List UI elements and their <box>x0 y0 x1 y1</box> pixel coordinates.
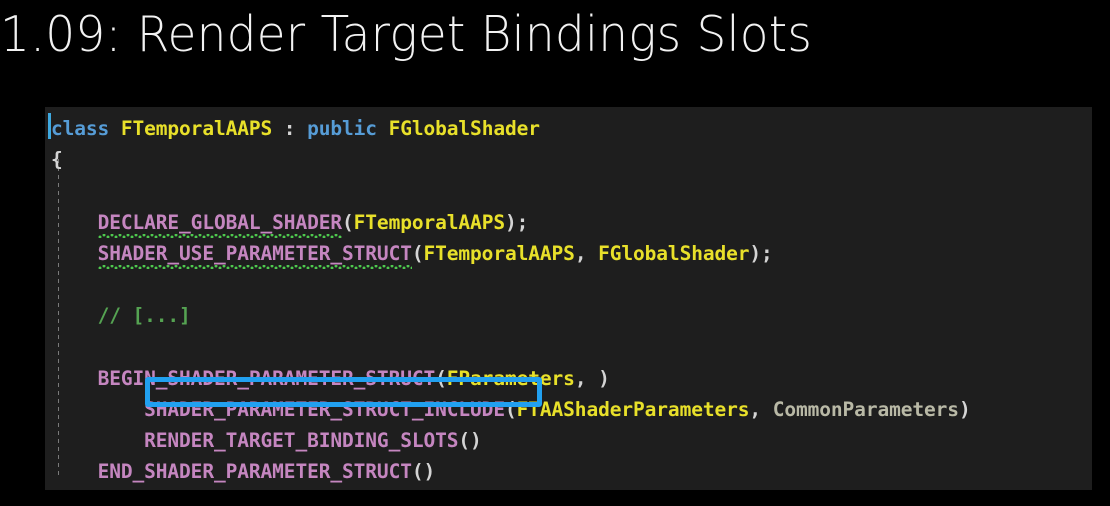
code-line: SHADER_PARAMETER_STRUCT_INCLUDE(FTAAShad… <box>51 394 971 425</box>
code-token: FGlobalShader <box>389 117 540 140</box>
code-token: BEGIN_SHADER_PARAMETER_STRUCT <box>98 367 436 390</box>
code-token: FGlobalShader <box>598 242 749 265</box>
code-token: DECLARE_GLOBAL_SHADER <box>98 211 342 234</box>
code-line <box>51 175 971 206</box>
code-token: () <box>412 460 435 483</box>
code-token: FTemporalAAPS <box>121 117 272 140</box>
code-token <box>109 117 121 140</box>
code-token: FTAAShaderParameters <box>517 398 750 421</box>
code-token: ( <box>505 398 517 421</box>
code-line <box>51 331 971 362</box>
code-token: // [...] <box>98 304 191 327</box>
code-token: ); <box>749 242 772 265</box>
code-token: SHADER_PARAMETER_STRUCT_INCLUDE <box>144 398 505 421</box>
code-listing[interactable]: class FTemporalAAPS : public FGlobalShad… <box>45 107 971 490</box>
slide-canvas: 1.09: Render Target Bindings Slots class… <box>0 0 1110 506</box>
code-token: ); <box>505 211 528 234</box>
code-token: END_SHADER_PARAMETER_STRUCT <box>98 460 412 483</box>
code-token: CommonParameters <box>773 398 959 421</box>
code-line: DECLARE_GLOBAL_SHADER(FTemporalAAPS); <box>51 207 971 238</box>
code-token: ( <box>435 367 447 390</box>
code-token <box>51 242 98 265</box>
code-token <box>51 429 144 452</box>
code-token: public <box>307 117 377 140</box>
code-token <box>377 117 389 140</box>
code-line: SHADER_USE_PARAMETER_STRUCT(FTemporalAAP… <box>51 238 971 269</box>
code-line: BEGIN_SHADER_PARAMETER_STRUCT(FParameter… <box>51 363 971 394</box>
code-token <box>51 304 98 327</box>
code-panel: class FTemporalAAPS : public FGlobalShad… <box>45 107 1092 490</box>
code-token: FTemporalAAPS <box>423 242 574 265</box>
code-token: , ) <box>575 367 610 390</box>
code-token <box>51 367 98 390</box>
code-token: { <box>51 148 63 171</box>
code-token: FTemporalAAPS <box>354 211 505 234</box>
code-token: FParameters <box>447 367 575 390</box>
code-line: RENDER_TARGET_BINDING_SLOTS() <box>51 425 971 456</box>
code-line: class FTemporalAAPS : public FGlobalShad… <box>51 113 971 144</box>
code-token: , <box>575 242 598 265</box>
code-line <box>51 269 971 300</box>
code-token: , <box>749 398 772 421</box>
page-title: 1.09: Render Target Bindings Slots <box>0 0 1056 74</box>
code-token: ( <box>412 242 424 265</box>
code-token <box>51 211 98 234</box>
code-token <box>51 398 144 421</box>
code-line: { <box>51 144 971 175</box>
code-token: ( <box>342 211 354 234</box>
code-token: : <box>272 117 307 140</box>
code-line: // [...] <box>51 300 971 331</box>
code-token: RENDER_TARGET_BINDING_SLOTS <box>144 429 458 452</box>
code-line: }; <box>51 487 971 490</box>
code-token: class <box>51 117 109 140</box>
code-token: ) <box>959 398 971 421</box>
code-token: () <box>458 429 481 452</box>
code-token <box>51 460 98 483</box>
code-token: SHADER_USE_PARAMETER_STRUCT <box>98 242 412 265</box>
code-line: END_SHADER_PARAMETER_STRUCT() <box>51 456 971 487</box>
